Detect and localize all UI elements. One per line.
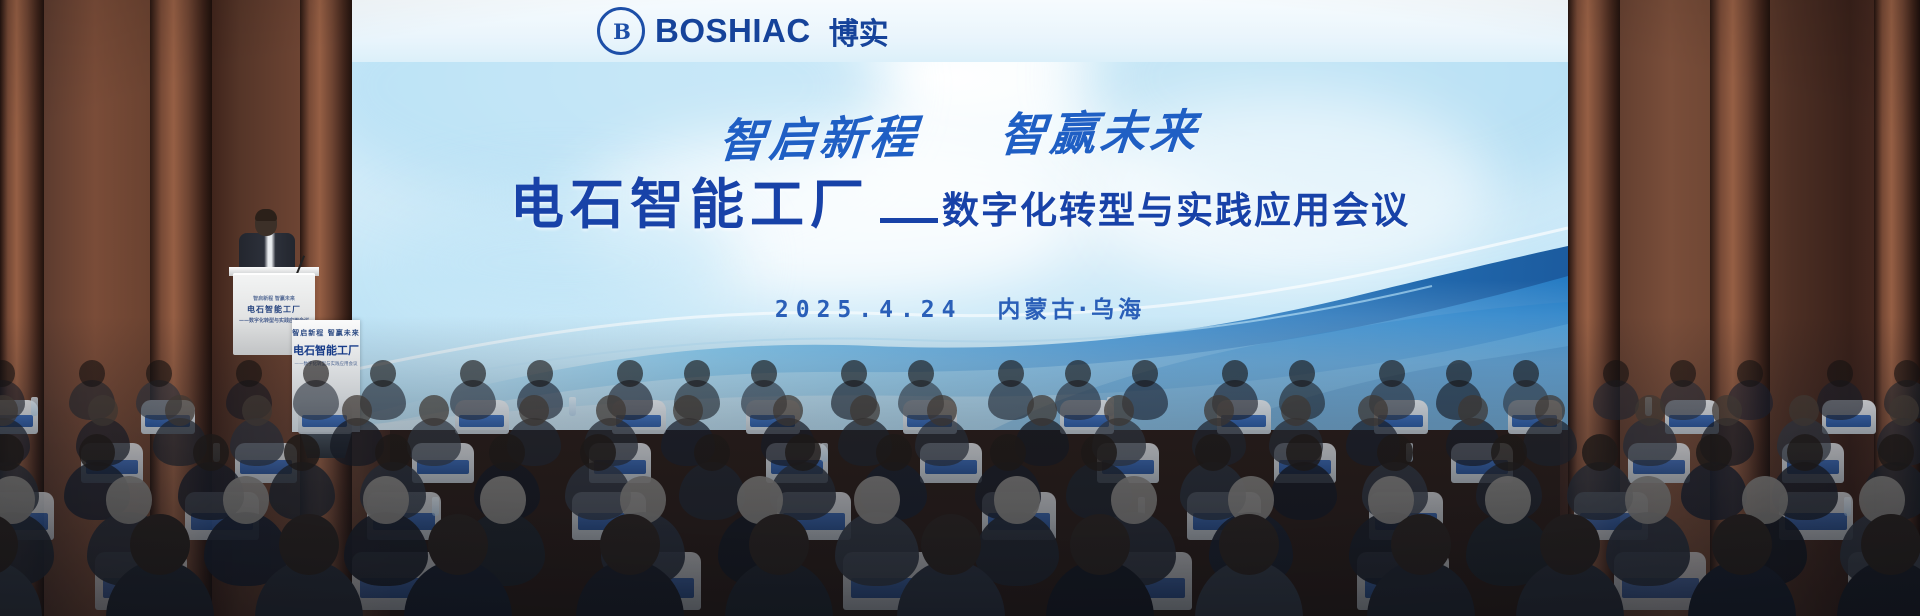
calligraphy-right: 智赢未来 (998, 104, 1203, 162)
audience-shadow-gradient (0, 316, 1920, 616)
title-dash (880, 218, 938, 223)
podium-top-line: 智启新程 智赢未来 (233, 295, 315, 302)
logo-english-text: BOSHIAC (655, 12, 811, 50)
title-main-text: 电石智能工厂 (510, 160, 870, 239)
speaker-hair (255, 209, 277, 221)
screen-logo-bar: B BOSHIAC 博实 (352, 0, 1568, 62)
logo-chinese-text: 博实 (829, 9, 889, 53)
audience-area (0, 316, 1920, 616)
boshiac-logo: B BOSHIAC 博实 (597, 7, 889, 55)
conference-photo: B BOSHIAC 博实 智启新程 智赢未来 电石智能工厂 数字化转型与实践应用… (0, 0, 1920, 616)
title-sub-text: 数字化转型与实践应用会议 (942, 180, 1410, 234)
boshiac-logo-icon: B (597, 7, 645, 55)
calligraphy-spacer (938, 152, 978, 153)
podium-main-line: 电石智能工厂 (247, 305, 301, 314)
